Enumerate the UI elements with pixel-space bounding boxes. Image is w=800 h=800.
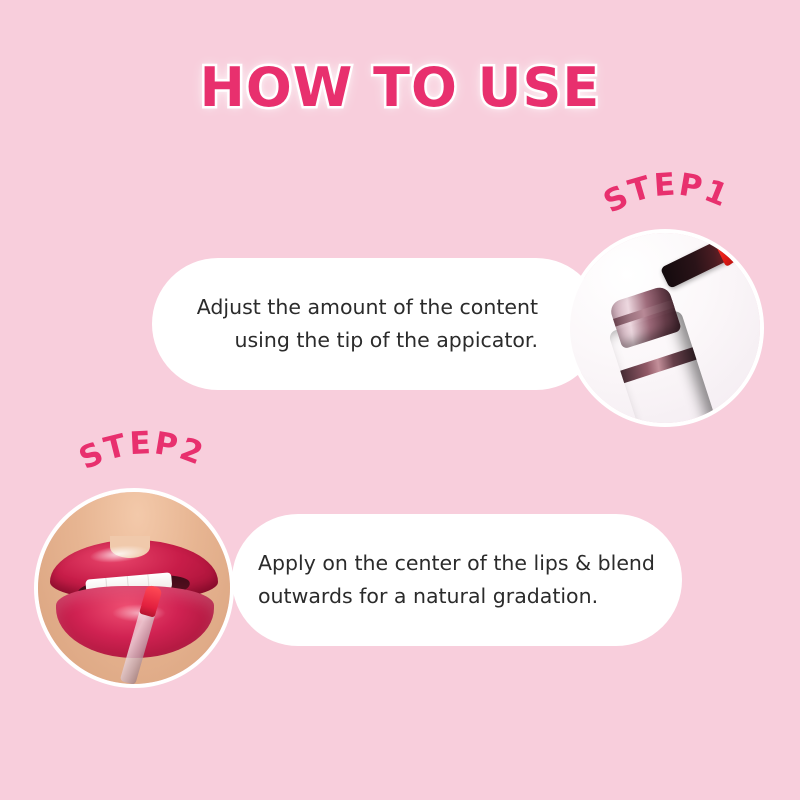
how-to-use-infographic: HOW TO USE Adjust the amount of the cont… xyxy=(0,0,800,800)
step-2-label: STEP2 xyxy=(48,432,238,500)
step-2-label-text: STEP2 xyxy=(74,425,210,477)
step-1-instruction-text: Adjust the amount of the content using t… xyxy=(197,291,538,357)
step-2-instruction-text: Apply on the center of the lips & blend … xyxy=(258,547,655,613)
step-2-card: Apply on the center of the lips & blend … xyxy=(232,514,682,646)
step-1-card: Adjust the amount of the content using t… xyxy=(152,258,602,390)
page-title: HOW TO USE xyxy=(0,56,800,119)
applicator-wand-icon xyxy=(660,233,747,289)
step-2-lips-photo xyxy=(38,492,230,684)
step-1-photo-artwork: Dear xyxy=(570,233,760,423)
step-2-photo-artwork xyxy=(38,492,230,684)
bottle-band xyxy=(620,347,696,383)
step-1-label-text: STEP1 xyxy=(598,166,735,220)
cap-ring xyxy=(613,300,674,327)
step-1-product-photo: Dear xyxy=(570,233,760,423)
step-1-label: STEP1 xyxy=(578,172,758,240)
